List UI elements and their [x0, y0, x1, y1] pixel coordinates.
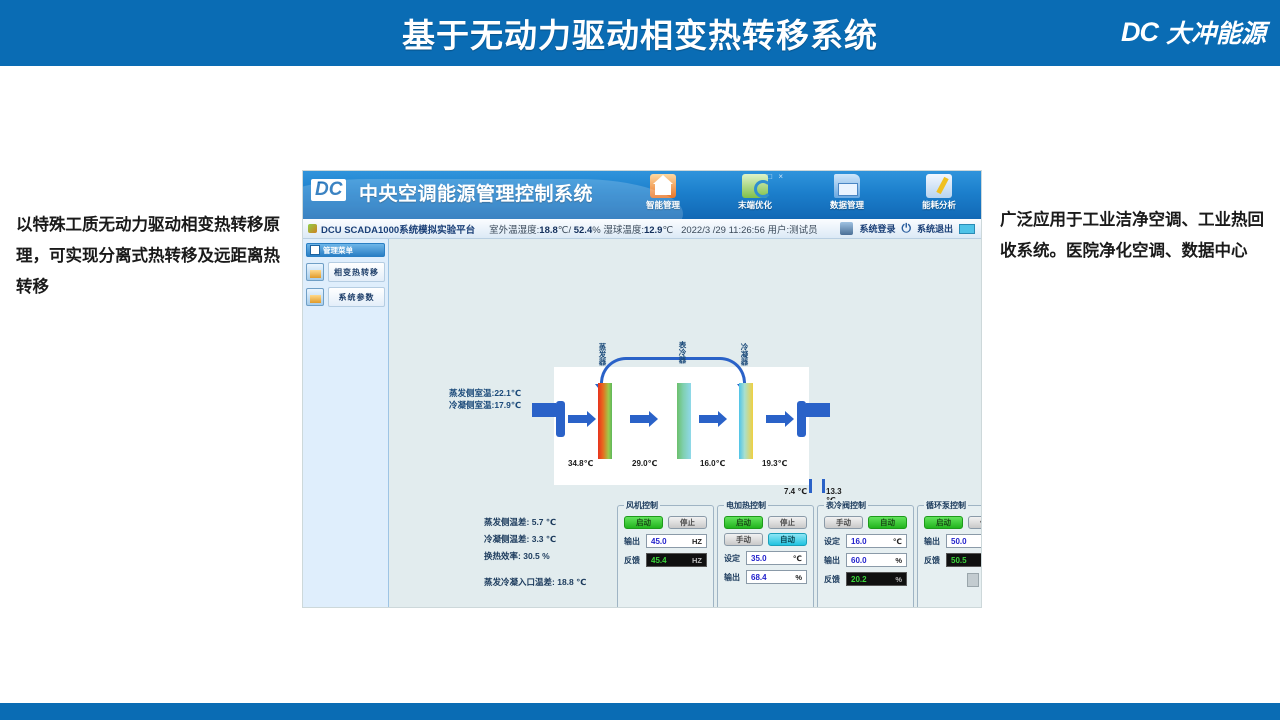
stat-unit: ℃: [546, 534, 556, 544]
water-temp-supply: 7.4 ℃: [784, 487, 807, 496]
valve-setpoint-field[interactable]: 16.0 ℃: [846, 534, 907, 548]
session-controls: 系统登录 ⏻ 系统退出: [840, 221, 975, 236]
field-value: 20.2: [851, 575, 867, 584]
field-value: 68.4: [751, 573, 767, 582]
control-panels: 风机控制 启动 停止 输出 45.0 HZ 反馈: [617, 505, 982, 608]
stat-value: 5.7: [532, 517, 544, 527]
scada-nav: 智能管理 末端优化 数据管理 能耗分析: [627, 173, 975, 211]
field-value: 35.0: [751, 554, 767, 563]
caption-right: 广泛应用于工业洁净空调、工业热回收系统。医院净化空调、数据中心: [1000, 205, 1268, 267]
home-icon: [650, 174, 676, 198]
chilled-water-return-line: [822, 479, 825, 493]
datetime: 2022/3 /29 11:26:56: [681, 225, 765, 236]
stat-label: 蒸发冷凝入口温差:: [484, 577, 555, 587]
ahu-schematic: 蒸发器 表冷器 冷凝器 34.8℃ 29.0℃ 16.0℃ 19.3℃ 7.4 …: [554, 367, 809, 485]
outdoor-humidity-unit: %: [592, 225, 600, 236]
valve-feedback-field: 20.2 %: [846, 572, 907, 586]
environment-readout: 室外温湿度:18.8℃/ 52.4% 湿球温度:12.9℃ 2022/3 /29…: [489, 222, 818, 236]
stat-label: 换热效率:: [484, 551, 521, 561]
cooler-label: 表冷器: [678, 341, 686, 364]
outdoor-temp-value: 18.8: [539, 225, 558, 236]
field-label: 输出: [824, 555, 842, 566]
menu-icon: [310, 245, 320, 255]
refresh-icon: [742, 174, 768, 198]
slide-footer: [0, 703, 1280, 720]
airflow-arrow-icon: [568, 415, 588, 423]
button-row: 启动 停止: [924, 516, 982, 529]
nav-item-intelligent-management[interactable]: 智能管理: [627, 173, 699, 211]
brand-mark: DC: [1121, 17, 1158, 48]
field-label: 输出: [724, 572, 742, 583]
button-row: 启动 停止: [624, 516, 707, 529]
field-label: 设定: [724, 553, 742, 564]
slide-header: 基于无动力驱动相变热转移系统 DC 大冲能源: [0, 0, 1280, 66]
field-row: 反馈 50.5 HZ: [924, 553, 982, 567]
stat-row: 蒸发冷凝入口温差: 18.8 ℃: [484, 574, 586, 591]
heater-start-button[interactable]: 启动: [724, 516, 763, 529]
nav-item-energy-analysis[interactable]: 能耗分析: [903, 173, 975, 211]
fan-start-button[interactable]: 启动: [624, 516, 663, 529]
heater-output-field[interactable]: 68.4 %: [746, 570, 807, 584]
fan-feedback-field: 45.4 HZ: [646, 553, 707, 567]
nav-label: 数据管理: [811, 199, 883, 211]
login-button[interactable]: 系统登录: [859, 222, 895, 235]
airflow-arrow-icon: [699, 415, 719, 423]
field-row: 输出 50.0 HZ: [924, 534, 982, 548]
button-row: 手动 自动: [724, 533, 807, 546]
fan-output-field[interactable]: 45.0 HZ: [646, 534, 707, 548]
outdoor-label: 室外温湿度:: [489, 225, 539, 236]
field-unit: HZ: [692, 556, 702, 565]
user-icon: [840, 222, 853, 235]
nav-label: 能耗分析: [903, 199, 975, 211]
stat-label: 冷凝侧温差:: [484, 534, 529, 544]
wetbulb-label: 湿球温度:: [603, 225, 644, 236]
field-unit: ℃: [793, 554, 802, 563]
panel-circulation-pump-control: 循环泵控制 启动 停止 输出 50.0 HZ 反馈: [917, 505, 982, 608]
air-temp-4: 19.3℃: [762, 459, 787, 468]
panel-title: 循环泵控制: [924, 500, 968, 511]
heater-auto-button[interactable]: 自动: [768, 533, 807, 546]
user-name: 测试员: [789, 225, 818, 236]
pump-feedback-field: 50.5 HZ: [946, 553, 982, 567]
outlet-damper: [797, 401, 806, 437]
scada-sidebar: 管理菜单 相变热转移 系统参数: [303, 239, 389, 608]
valve-manual-button[interactable]: 手动: [824, 516, 863, 529]
stat-unit: ℃: [546, 517, 556, 527]
button-row: 手动 自动: [824, 516, 907, 529]
field-unit: %: [895, 575, 902, 584]
field-row: 设定 35.0 ℃: [724, 551, 807, 565]
panel-title: 表冷阀控制: [824, 500, 868, 511]
button-row: 启动 停止: [724, 516, 807, 529]
module-icon: [306, 263, 324, 281]
field-unit: ℃: [893, 537, 902, 546]
stat-unit: %: [542, 551, 550, 561]
chart-icon: [926, 174, 952, 198]
pump-stop-button[interactable]: 停止: [968, 516, 982, 529]
field-row: 反馈 20.2 %: [824, 572, 907, 586]
header-divider: [0, 66, 1280, 70]
condenser-label: 冷凝器: [740, 343, 748, 366]
field-row: 输出 68.4 %: [724, 570, 807, 584]
stat-row: 换热效率: 30.5 %: [484, 548, 586, 565]
module-icon: [306, 288, 324, 306]
page-title: 基于无动力驱动相变热转移系统: [402, 9, 878, 57]
sidebar-item-phase-change[interactable]: 相变热转移: [306, 261, 385, 283]
outdoor-temp-unit: ℃/: [558, 225, 571, 236]
field-unit: %: [795, 573, 802, 582]
stat-row: 蒸发侧温差: 5.7 ℃: [484, 514, 586, 531]
wetbulb-unit: ℃: [662, 225, 673, 236]
air-temp-1: 34.8℃: [568, 459, 593, 468]
field-row: 输出 45.0 HZ: [624, 534, 707, 548]
heater-setpoint-field[interactable]: 35.0 ℃: [746, 551, 807, 565]
scada-statusbar: DCU SCADA1000系统模拟实验平台 室外温湿度:18.8℃/ 52.4%…: [303, 219, 981, 239]
panel-title: 风机控制: [624, 500, 660, 511]
evaporator-label: 蒸发器: [598, 343, 606, 366]
sidebar-item-label: 相变热转移: [328, 262, 385, 282]
chilled-water-supply-line: [809, 479, 812, 493]
stat-row: 冷凝侧温差: 3.3 ℃: [484, 531, 586, 548]
platform-name: DCU SCADA1000系统模拟实验平台: [321, 222, 475, 236]
heater-stop-button[interactable]: 停止: [768, 516, 807, 529]
performance-stats: 蒸发侧温差: 5.7 ℃ 冷凝侧温差: 3.3 ℃ 换热效率: 30.5 % 蒸…: [484, 514, 586, 591]
scada-screenshot: DC 中央空调能源管理控制系统 — □ × 智能管理 末端优化 数据管理 能耗分…: [302, 170, 982, 608]
condenser-coil: [739, 383, 753, 459]
stat-value: 30.5: [523, 551, 540, 561]
field-label: 反馈: [624, 555, 642, 566]
field-value: 45.4: [651, 556, 667, 565]
field-label: 反馈: [924, 555, 942, 566]
room-temperature-readout: 蒸发侧室温:22.1℃ 冷凝侧室温:17.9℃: [449, 387, 521, 411]
pump-output-field[interactable]: 50.0 HZ: [946, 534, 982, 548]
scada-body: 管理菜单 相变热转移 系统参数 蒸发侧室温:22.1℃ 冷凝侧室温:17.9℃: [303, 239, 981, 608]
valve-auto-button[interactable]: 自动: [868, 516, 907, 529]
field-row: 输出 60.0 %: [824, 553, 907, 567]
field-row: 反馈 45.4 HZ: [624, 553, 707, 567]
cond-side-room-temp: 冷凝侧室温:17.9℃: [449, 399, 521, 411]
cooling-coil: [677, 383, 691, 459]
status-chip: [959, 224, 975, 234]
duct-outlet: [806, 403, 830, 417]
stat-value: 3.3: [532, 534, 544, 544]
field-label: 反馈: [824, 574, 842, 585]
heater-manual-button[interactable]: 手动: [724, 533, 763, 546]
user-label: 用户:: [768, 225, 790, 236]
sidebar-header: 管理菜单: [306, 243, 385, 257]
air-temp-2: 29.0℃: [632, 459, 657, 468]
folder-icon: [834, 174, 860, 198]
power-icon: ⏻: [901, 221, 911, 236]
sidebar-item-system-params[interactable]: 系统参数: [306, 286, 385, 308]
field-label: 输出: [924, 536, 942, 547]
field-label: 输出: [624, 536, 642, 547]
panel-cooling-valve-control: 表冷阀控制 手动 自动 设定 16.0 ℃ 输出: [817, 505, 914, 608]
brand-name: 大冲能源: [1166, 14, 1266, 50]
field-value: 45.0: [651, 537, 667, 546]
field-value: 50.0: [951, 537, 967, 546]
nav-item-terminal-optimization[interactable]: 末端优化: [719, 173, 791, 211]
wetbulb-value: 12.9: [644, 225, 663, 236]
valve-output-field[interactable]: 60.0 %: [846, 553, 907, 567]
brand-logo: DC 大冲能源: [1121, 14, 1266, 50]
scada-main-canvas: 蒸发侧室温:22.1℃ 冷凝侧室温:17.9℃ 蒸发器 表冷器 冷凝器: [389, 239, 981, 608]
scada-system-title: 中央空调能源管理控制系统: [359, 179, 593, 206]
status-indicator-icon: [308, 224, 317, 233]
logout-button[interactable]: 系统退出: [917, 222, 953, 235]
pump-start-button[interactable]: 启动: [924, 516, 963, 529]
evap-side-room-temp: 蒸发侧室温:22.1℃: [449, 387, 521, 399]
field-value: 60.0: [851, 556, 867, 565]
inlet-damper: [556, 401, 565, 437]
nav-item-data-management[interactable]: 数据管理: [811, 173, 883, 211]
outdoor-humidity-value: 52.4: [574, 225, 593, 236]
airflow-arrow-icon: [766, 415, 786, 423]
nav-label: 末端优化: [719, 199, 791, 211]
stat-spacer: [484, 565, 586, 574]
sidebar-header-label: 管理菜单: [323, 245, 353, 256]
stat-unit: ℃: [576, 577, 586, 587]
phase-change-loop-arrow-icon: [600, 357, 746, 383]
evaporator-coil: [598, 383, 612, 459]
panel-title: 电加热控制: [724, 500, 768, 511]
field-value: 16.0: [851, 537, 867, 546]
scada-logo: DC: [311, 179, 346, 201]
sidebar-item-label: 系统参数: [328, 287, 385, 307]
field-value: 50.5: [951, 556, 967, 565]
field-row: 设定 16.0 ℃: [824, 534, 907, 548]
stat-label: 蒸发侧温差:: [484, 517, 529, 527]
field-unit: %: [895, 556, 902, 565]
field-label: 设定: [824, 536, 842, 547]
duct-inlet: [532, 403, 556, 417]
nav-label: 智能管理: [627, 199, 699, 211]
panel-fan-control: 风机控制 启动 停止 输出 45.0 HZ 反馈: [617, 505, 714, 608]
scada-titlebar: DC 中央空调能源管理控制系统 — □ × 智能管理 末端优化 数据管理 能耗分…: [303, 171, 981, 219]
air-temp-3: 16.0℃: [700, 459, 725, 468]
caption-left: 以特殊工质无动力驱动相变热转移原理，可实现分离式热转移及远距离热转移: [16, 210, 284, 303]
panel-electric-heater-control: 电加热控制 启动 停止 手动 自动 设定 35.0 ℃: [717, 505, 814, 608]
field-unit: HZ: [692, 537, 702, 546]
fan-stop-button[interactable]: 停止: [668, 516, 707, 529]
airflow-arrow-icon: [630, 415, 650, 423]
stat-value: 18.8: [557, 577, 574, 587]
scrollbar-thumb[interactable]: [967, 573, 979, 587]
